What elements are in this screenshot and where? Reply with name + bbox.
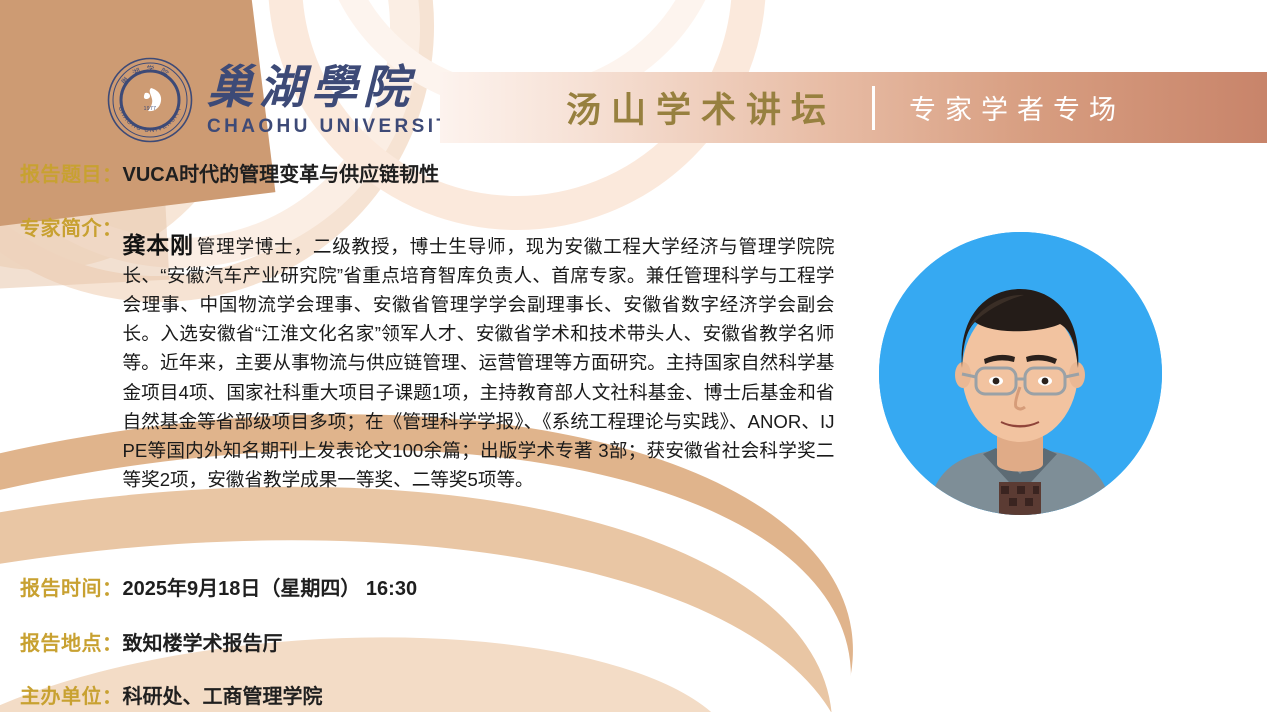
university-name-cn: 巢湖學院 (207, 65, 467, 111)
field-row-place: 报告地点： 致知楼学术报告厅 (20, 627, 283, 656)
poster-header: 1977 巢湖学院 CHAOHU UNIVERSITY 巢湖學院 CHAOHU … (0, 0, 1267, 150)
bio-paragraph: 龚本刚管理学博士，二级教授，博士生导师，现为安徽工程大学经济与管理学院院长、“安… (123, 231, 835, 495)
title-value: VUCA时代的管理变革与供应链韧性 (123, 158, 440, 187)
university-logo: 1977 巢湖学院 CHAOHU UNIVERSITY 巢湖學院 CHAOHU … (107, 57, 467, 143)
lecture-series-banner: 汤山学术讲坛 专家学者专场 (440, 72, 1267, 143)
field-row-title: 报告题目： VUCA时代的管理变革与供应链韧性 (20, 158, 439, 187)
university-crest-icon: 1977 巢湖学院 CHAOHU UNIVERSITY (107, 57, 193, 143)
speaker-name: 龚本刚 (123, 232, 194, 258)
host-value: 科研处、工商管理学院 (123, 680, 323, 709)
university-name-en: CHAOHU UNIVERSITY (207, 117, 467, 136)
place-label: 报告地点： (20, 627, 123, 656)
speaker-portrait (879, 232, 1162, 515)
time-label: 报告时间： (20, 572, 123, 601)
bio-body: 龚本刚管理学博士，二级教授，博士生导师，现为安徽工程大学经济与管理学院院长、“安… (123, 212, 835, 513)
svg-text:1977: 1977 (144, 106, 157, 112)
host-label: 主办单位： (20, 680, 123, 709)
time-value: 2025年9月18日（星期四） 16:30 (123, 572, 418, 601)
field-row-host: 主办单位： 科研处、工商管理学院 (20, 680, 323, 709)
place-value: 致知楼学术报告厅 (123, 627, 283, 656)
lecture-poster: 1977 巢湖学院 CHAOHU UNIVERSITY 巢湖學院 CHAOHU … (0, 0, 1267, 712)
banner-title: 汤山学术讲坛 (566, 82, 836, 133)
banner-subtitle: 专家学者专场 (909, 88, 1125, 127)
banner-separator-icon (872, 86, 875, 130)
field-row-time: 报告时间： 2025年9月18日（星期四） 16:30 (20, 572, 417, 601)
bio-text: 管理学博士，二级教授，博士生导师，现为安徽工程大学经济与管理学院院长、“安徽汽车… (123, 236, 835, 491)
title-label: 报告题目： (20, 158, 123, 187)
bio-label: 专家简介： (20, 212, 123, 241)
university-wordmark: 巢湖學院 CHAOHU UNIVERSITY (207, 65, 467, 136)
